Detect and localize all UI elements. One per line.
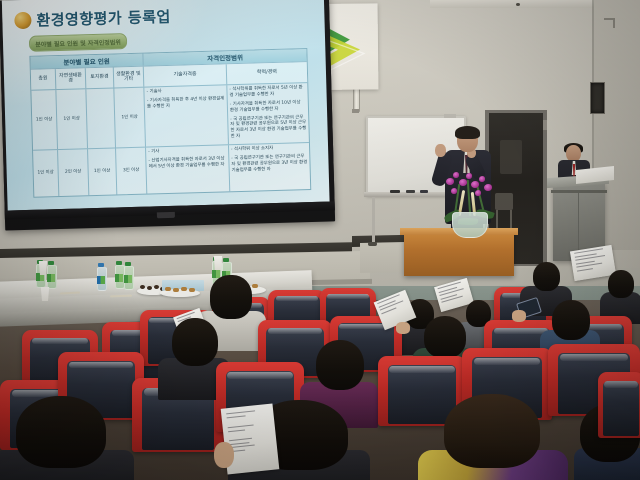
presentation-slide: 환경영향평가 등록업 분야별 필요 인원 및 자격인정범위 분야별 필요 인원 …: [10, 0, 327, 204]
slide-section-label: 분야별 필요 인원 및 자격인정범위: [35, 37, 121, 48]
orchid-bloom: [446, 178, 454, 185]
col-header-3: 생활환경 및 기타: [114, 67, 145, 88]
slide-title-row: 환경영향평가 등록업: [14, 1, 314, 31]
screen-surface: 환경영향평가 등록업 분야별 필요 인원 및 자격인정범위 분야별 필요 인원 …: [2, 0, 330, 210]
whiteboard-leg-left: [372, 197, 375, 243]
wall-speaker-icon: [590, 82, 605, 114]
screen-weight: [157, 212, 175, 219]
glass-vase: [452, 212, 488, 238]
wall-bracket: [604, 18, 615, 28]
row0-qualification: - 기술사- 기사자격을 취득한 후 4년 이상 환경설계를 수행한 자: [144, 85, 228, 147]
slide-title: 환경영향평가 등록업: [36, 5, 171, 30]
row1-cell1: 2인 이상: [58, 150, 90, 197]
presenter-left-hand: [435, 144, 446, 157]
col-header-1: 자연생태환경: [56, 68, 87, 89]
row1-career: - 석사학위 이상 소지자- 국 공립연구기관 또는 연구기관의 근무자 및 환…: [229, 143, 310, 191]
snack-piece: [165, 287, 171, 291]
whiteboard-clip: [444, 114, 456, 118]
ceiling-fixture: [516, 3, 520, 6]
lecture-hall-photo: 수회 구 전략보 ...급 환경공학과 환경영향평가 등록업 분야별 필요 인원…: [0, 0, 640, 480]
table-row: 1인 이상 2인 이상 1인 이상 3인 이상 - 기사- 산업기사자격을 취득…: [33, 143, 310, 196]
marker-icon: [420, 190, 428, 193]
projection-screen: 환경영향평가 등록업 분야별 필요 인원 및 자격인정범위 분야별 필요 인원 …: [0, 0, 335, 231]
lectern-shelf: [551, 190, 607, 193]
row1-cell2: 1인 이상: [88, 149, 117, 195]
row0-cell2: [87, 88, 116, 148]
marker-icon: [390, 190, 400, 193]
snack-piece: [189, 288, 195, 292]
snack-piece: [147, 286, 152, 290]
slide-table: 분야별 필요 인원 자격인정범위 총원 자연생태환경 토지환경 생활환경 및 기…: [29, 48, 311, 198]
presenter-hair: [455, 126, 480, 139]
table-row: 1인 이상 1인 이상 1인 이상 - 기술사- 기사자격을 취득한 후 4년 …: [31, 83, 309, 151]
row0-cell1: 1인 이상: [56, 89, 88, 149]
snack-piece: [173, 288, 179, 292]
row1-cell3: 3인 이상: [116, 148, 148, 195]
col-header-4: 기술자격증: [144, 64, 227, 86]
tube-cap-bottom: [352, 109, 359, 113]
orchid-bloom: [484, 184, 492, 191]
orchid-bloom: [475, 190, 481, 196]
hand: [396, 322, 410, 334]
row1-qualification: - 기사- 산업기사자격을 취득한 자로서 3년 이상에서 5년 이상 환경 기…: [146, 146, 230, 194]
hand: [512, 310, 526, 322]
snack-piece: [181, 287, 187, 291]
attendee: [420, 394, 556, 480]
col-header-2: 토지환경: [86, 67, 114, 88]
door-hinge: [543, 120, 547, 130]
doorway-interior-object: [500, 140, 522, 174]
col-header-0: 총원: [31, 69, 56, 90]
attendee: [600, 270, 640, 322]
snack-piece: [154, 285, 159, 289]
row0-career: - 석사학위를 취득한 자로서 5년 이상 환경 기술업무를 수행한 자- 기사…: [227, 83, 309, 145]
orchid-bloom: [466, 173, 472, 179]
orchid-bloom: [451, 188, 457, 194]
hand: [214, 442, 234, 468]
row0-cell3: 1인 이상: [114, 87, 146, 147]
row1-cell0: 1인 이상: [33, 150, 59, 196]
row0-cell0: 1인 이상: [31, 90, 57, 150]
orchid-bloom: [459, 179, 467, 186]
marker-icon: [406, 190, 415, 193]
whiteboard-foot-left: [368, 242, 377, 246]
orchid-arrangement: [438, 168, 500, 238]
orchid-bloom: [453, 172, 459, 178]
water-bottle: [47, 265, 57, 289]
slide-section-bar: 분야별 필요 인원 및 자격인정범위: [29, 33, 127, 52]
orchid-bloom: [479, 176, 485, 182]
water-bottle: [97, 267, 107, 291]
attendee: [0, 396, 124, 480]
wooden-podium: [404, 232, 514, 276]
snack-piece: [140, 285, 145, 289]
water-bottle: [124, 266, 134, 290]
col-header-5: 학력/경력: [227, 62, 308, 84]
gold-seal-icon: [14, 11, 31, 28]
orchid-bloom: [471, 181, 479, 188]
seat[interactable]: [598, 372, 640, 438]
